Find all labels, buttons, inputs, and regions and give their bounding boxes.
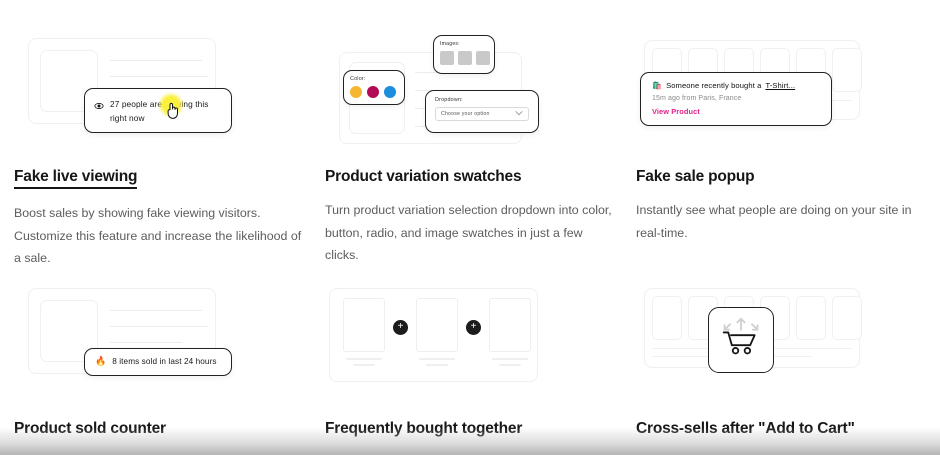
product-image-placeholder — [416, 298, 458, 352]
feature-card-product-variation-swatches[interactable]: Images: Color: Dropd — [325, 0, 622, 270]
feature-description: Boost sales by showing fake viewing visi… — [14, 202, 306, 270]
dropdown-select[interactable]: Choose your option — [435, 107, 529, 121]
feature-title[interactable]: Fake live viewing — [14, 168, 137, 189]
image-swatch[interactable] — [440, 51, 454, 65]
feature-description: Instantly see what people are doing on y… — [636, 199, 928, 244]
add-to-cart-overlay[interactable] — [708, 307, 774, 373]
fire-emoji: 🔥 — [95, 356, 106, 367]
product-cell — [832, 48, 862, 92]
product-cell — [796, 296, 826, 340]
feature-title[interactable]: Fake sale popup — [636, 168, 933, 186]
sale-meta: 15m ago from Paris, France — [652, 95, 820, 102]
product-cell — [832, 296, 862, 340]
text-line — [353, 364, 375, 366]
image-swatch[interactable] — [476, 51, 490, 65]
feature-description: Make it easier for customers to find the… — [325, 451, 617, 455]
color-swatch-magenta[interactable] — [367, 86, 379, 98]
feature-title[interactable]: Product variation swatches — [325, 168, 622, 186]
mockup-fake-sale-popup: 🛍️ Someone recently bought a T-Shirt... … — [636, 30, 926, 160]
color-swatch-panel[interactable]: Color: — [343, 70, 405, 105]
feature-title[interactable]: Cross-sells after "Add to Cart" — [636, 420, 933, 438]
text-line — [492, 358, 528, 360]
text-line — [110, 76, 208, 77]
pointer-hand-icon — [165, 101, 180, 125]
dropdown-label: Dropdown: — [435, 97, 538, 103]
plus-icon: + — [393, 320, 408, 335]
text-line — [419, 358, 455, 360]
shopping-cart-arrows-icon — [719, 316, 763, 363]
text-line — [110, 310, 202, 311]
feature-description: Encourage customers to buy more by offer… — [14, 451, 306, 455]
chevron-down-icon — [515, 110, 523, 118]
sold-counter-popup[interactable]: 🔥 8 items sold in last 24 hours — [84, 348, 232, 376]
popup-line-2: right now — [110, 113, 145, 123]
sale-message: Someone recently bought a — [666, 81, 761, 90]
eye-icon — [94, 98, 104, 125]
feature-card-product-sold-counter[interactable]: 🔥 8 items sold in last 24 hours Product … — [14, 270, 311, 455]
product-cell — [652, 296, 682, 340]
text-line — [110, 60, 202, 61]
sold-counter-text: 8 items sold in last 24 hours — [112, 357, 216, 366]
images-label: Images: — [440, 41, 494, 47]
mockup-cross-sells — [636, 282, 926, 412]
bundle-product — [416, 298, 458, 366]
color-swatch-blue[interactable] — [384, 86, 396, 98]
bundle-product — [489, 298, 531, 366]
features-grid: 27 people are viewing this right now Fak… — [0, 0, 940, 455]
color-swatch-yellow[interactable] — [350, 86, 362, 98]
text-line — [426, 364, 448, 366]
feature-card-fake-live-viewing[interactable]: 27 people are viewing this right now Fak… — [14, 0, 311, 270]
shopping-bag-emoji: 🛍️ — [652, 81, 662, 90]
plus-icon: + — [466, 320, 481, 335]
image-swatch[interactable] — [458, 51, 472, 65]
text-line — [346, 358, 382, 360]
dropdown-panel[interactable]: Dropdown: Choose your option — [425, 90, 539, 133]
bundle-row: + + — [343, 298, 531, 366]
feature-card-cross-sells-after-add-to-cart[interactable]: Cross-sells after "Add to Cart" Add an u… — [636, 270, 933, 455]
text-line — [110, 342, 182, 343]
image-swatch-row[interactable] — [440, 51, 494, 65]
feature-card-fake-sale-popup[interactable]: 🛍️ Someone recently bought a T-Shirt... … — [636, 0, 933, 270]
mockup-variation-swatches: Images: Color: Dropd — [325, 30, 615, 160]
feature-description: Add an up-sell or cross-sell products po… — [636, 451, 928, 455]
color-label: Color: — [350, 76, 404, 82]
text-line — [110, 326, 208, 327]
text-line — [499, 364, 521, 366]
features-grid-page: 27 people are viewing this right now Fak… — [0, 0, 940, 455]
live-viewing-popup[interactable]: 27 people are viewing this right now — [84, 88, 232, 133]
sale-product-link[interactable]: T-Shirt... — [765, 81, 795, 90]
feature-title[interactable]: Product sold counter — [14, 420, 311, 438]
bundle-product — [343, 298, 385, 366]
mockup-fake-live-viewing: 27 people are viewing this right now — [14, 30, 304, 160]
dropdown-value: Choose your option — [441, 111, 490, 117]
feature-card-frequently-bought-together[interactable]: + + Frequently bought together Make it e… — [325, 270, 622, 455]
image-swatch-panel[interactable]: Images: — [433, 35, 495, 74]
feature-title[interactable]: Frequently bought together — [325, 420, 622, 438]
mockup-product-sold-counter: 🔥 8 items sold in last 24 hours — [14, 282, 304, 412]
product-image-placeholder — [489, 298, 531, 352]
product-image-placeholder — [343, 298, 385, 352]
feature-description: Turn product variation selection dropdow… — [325, 199, 617, 267]
sale-popup[interactable]: 🛍️ Someone recently bought a T-Shirt... … — [640, 72, 832, 126]
mockup-frequently-bought-together: + + — [325, 282, 615, 412]
view-product-link[interactable]: View Product — [652, 107, 820, 116]
color-swatch-row[interactable] — [350, 86, 404, 98]
